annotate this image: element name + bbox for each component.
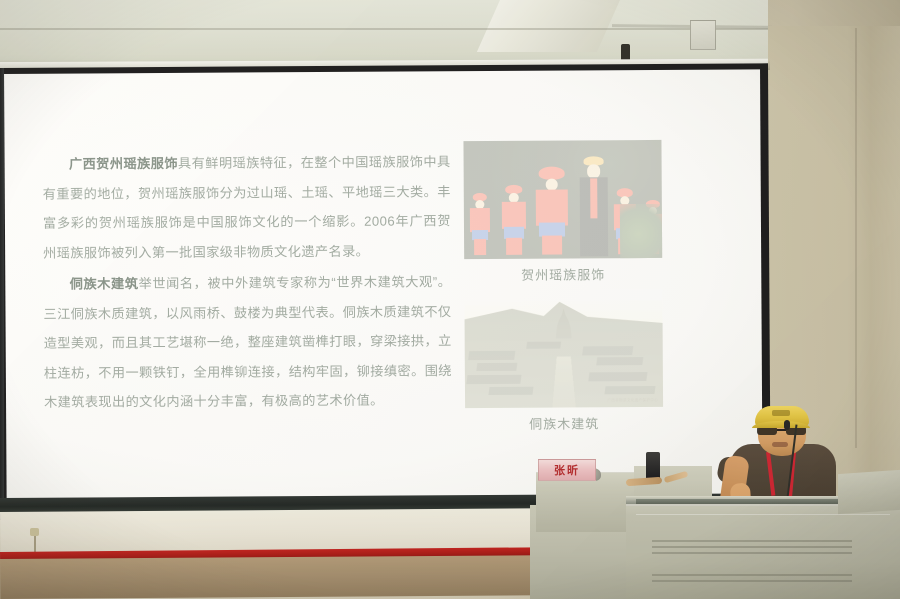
costume-figure [470,193,490,255]
slide-image-column: 贺州瑶族服饰 [463,140,695,439]
control-device-icon[interactable] [646,452,660,480]
photo-watermark: 广西非物质文化遗产保护中心 [607,398,658,403]
wall-outlet-icon [30,528,39,536]
cap-brim [752,421,810,428]
yao-costume-photo [463,140,662,259]
podium-front-panel [626,504,900,599]
costume-figure [502,185,526,255]
microphone-icon [784,420,790,430]
wall-mounted-box [690,20,716,50]
costume-figure [536,167,569,255]
name-plate: 张昕 [538,459,596,481]
slide-paragraph-2-bold-lead: 侗族木建筑 [70,276,139,291]
wall-panel-seam [855,28,857,448]
presentation-slide: 广西贺州瑶族服饰具有鲜明瑶族特征，在整个中国瑶族服饰中具有重要的地位，贺州瑶族服… [14,77,769,510]
screen-left-edge [0,68,4,520]
slide-paragraph-1-bold-lead: 广西贺州瑶族服饰 [69,156,178,172]
cap-logo [772,410,790,416]
slide-paragraph-2-text: 举世闻名，被中外建筑专家称为“世界木建筑大观”。三江侗族木质建筑，以风雨桥、鼓楼… [43,274,451,409]
costume-figure-tall [580,156,609,256]
name-plate-text: 张昕 [554,462,580,478]
slide-paragraph-1: 广西贺州瑶族服饰具有鲜明瑶族特征，在整个中国瑶族服饰中具有重要的地位，贺州瑶族服… [43,147,452,267]
slide-paragraph-2: 侗族木建筑举世闻名，被中外建筑专家称为“世界木建筑大观”。三江侗族木质建筑，以风… [43,267,452,417]
projection-screen-surface: 广西贺州瑶族服饰具有鲜明瑶族特征，在整个中国瑶族服饰中具有重要的地位，贺州瑶族服… [4,69,763,508]
foliage-decor [620,204,662,259]
slide-photo-block-2: 广西非物质文化遗产保护中心 侗族木建筑 [464,289,695,433]
dong-wooden-architecture-photo: 广西非物质文化遗产保护中心 [464,289,663,408]
podium-right-surface [838,470,900,514]
photo-caption-2: 侗族木建筑 [465,413,663,433]
slide-text-column: 广西贺州瑶族服饰具有鲜明瑶族特征，在整个中国瑶族服饰中具有重要的地位，贺州瑶族服… [43,147,453,419]
presenter-mouth [772,442,788,447]
photo-caption-1: 贺州瑶族服饰 [464,264,662,284]
lecture-hall-scene: 广西贺州瑶族服饰具有鲜明瑶族特征，在整个中国瑶族服饰中具有重要的地位，贺州瑶族服… [0,0,900,599]
ceiling-beam [477,0,620,52]
slide-photo-block-1: 贺州瑶族服饰 [463,140,694,284]
ceiling-seam [0,28,768,30]
